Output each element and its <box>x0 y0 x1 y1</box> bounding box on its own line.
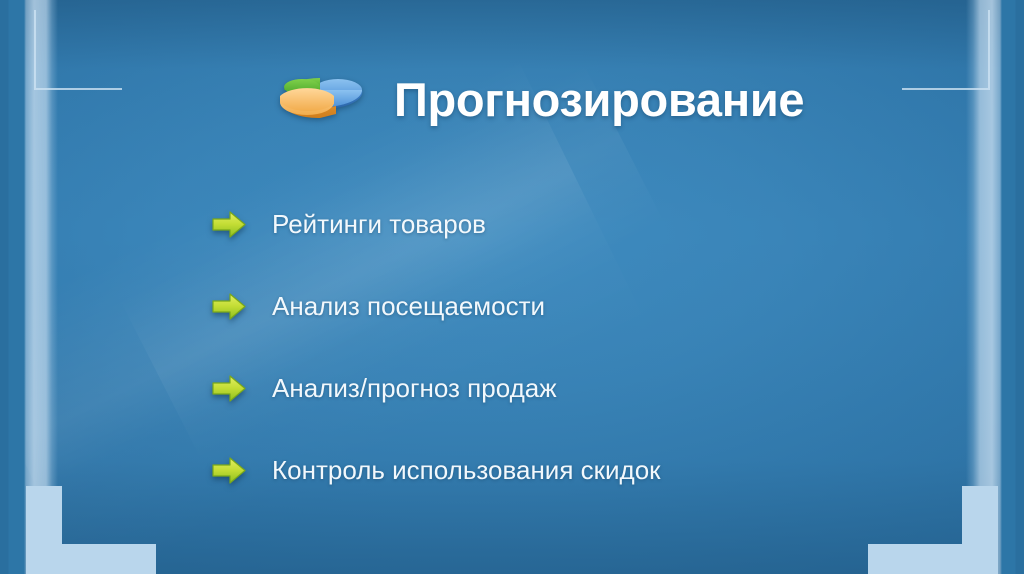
green-arrow-icon <box>212 293 246 320</box>
list-item-label: Рейтинги товаров <box>272 211 486 237</box>
green-arrow-icon <box>212 211 246 238</box>
list-item[interactable]: Анализ/прогноз продаж <box>212 347 661 429</box>
page-title: Прогнозирование <box>394 76 804 123</box>
green-arrow-icon <box>212 375 246 402</box>
green-arrow-icon <box>212 457 246 484</box>
list-item[interactable]: Анализ посещаемости <box>212 265 661 347</box>
list-item-label: Контроль использования скидок <box>272 457 661 483</box>
list-item-label: Анализ/прогноз продаж <box>272 375 557 401</box>
bullet-list: Рейтинги товаров Анализ посещаемости Ана… <box>212 183 661 511</box>
list-item[interactable]: Контроль использования скидок <box>212 429 661 511</box>
slide-content: Прогнозирование Рейтинги товаров <box>0 0 1024 574</box>
slide-title-row: Прогнозирование <box>276 66 804 132</box>
list-item[interactable]: Рейтинги товаров <box>212 183 661 265</box>
presentation-slide: Прогнозирование Рейтинги товаров <box>0 0 1024 574</box>
list-item-label: Анализ посещаемости <box>272 293 545 319</box>
pie-chart-3d-icon <box>276 66 372 132</box>
